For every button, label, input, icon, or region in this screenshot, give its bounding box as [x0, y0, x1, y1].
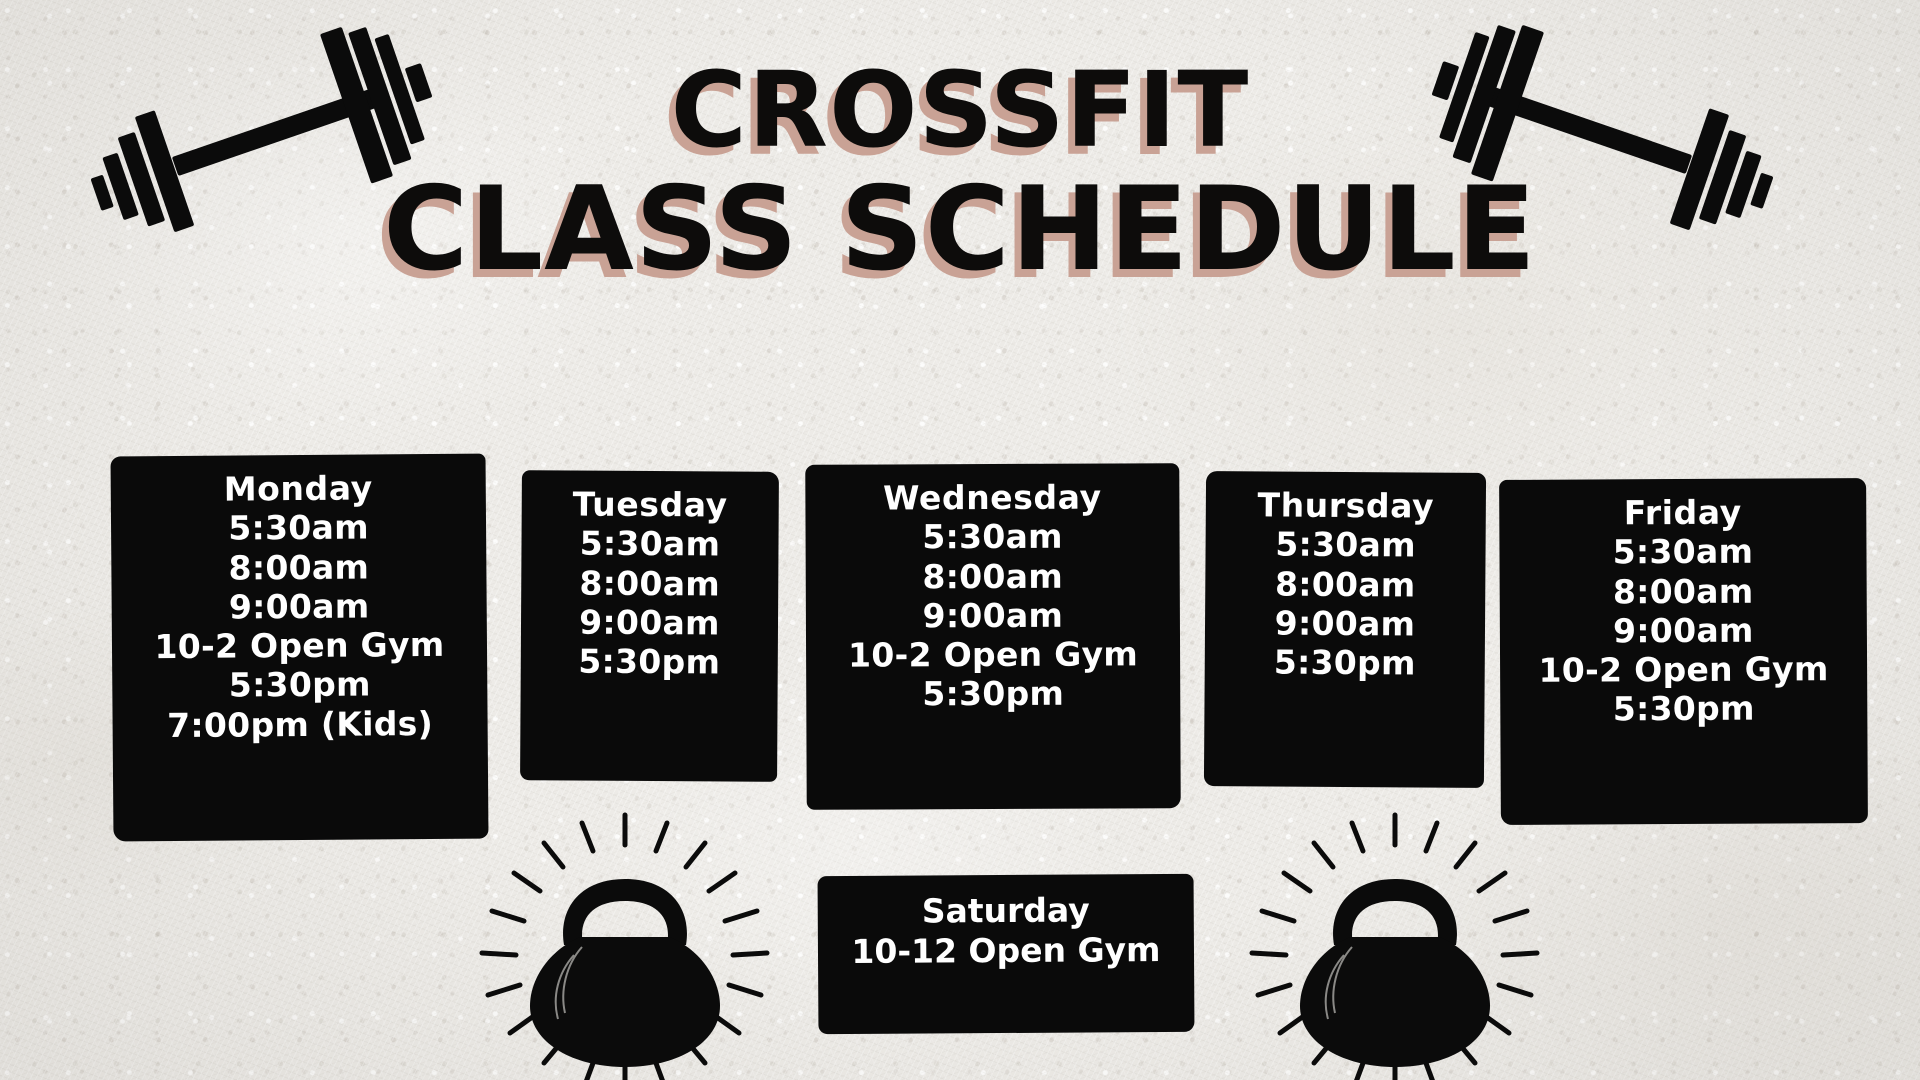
- class-time: 10-2 Open Gym: [816, 634, 1170, 675]
- day-card-wednesday[interactable]: Wednesday 5:30am 8:00am 9:00am 10-2 Open…: [805, 463, 1181, 810]
- class-time: 9:00am: [1510, 610, 1857, 651]
- day-card-saturday[interactable]: Saturday 10-12 Open Gym: [818, 874, 1195, 1034]
- class-time: 8:00am: [816, 556, 1170, 597]
- class-time: 9:00am: [122, 585, 477, 627]
- schedule-poster: CROSSFIT CLASS SCHEDULE Monday 5:30am 8:…: [0, 0, 1920, 1080]
- class-time: 10-2 Open Gym: [1510, 649, 1857, 690]
- class-time: 9:00am: [816, 595, 1170, 636]
- day-card-tuesday[interactable]: Tuesday 5:30am 8:00am 9:00am 5:30pm: [520, 470, 779, 782]
- day-card-monday[interactable]: Monday 5:30am 8:00am 9:00am 10-2 Open Gy…: [110, 454, 488, 842]
- day-label-monday: Monday: [121, 468, 476, 510]
- class-time: 5:30pm: [816, 674, 1170, 715]
- class-time: 5:30am: [1215, 524, 1475, 565]
- title-line-class-schedule: CLASS SCHEDULE: [0, 172, 1920, 288]
- class-time: 5:30am: [1509, 531, 1856, 572]
- title-line-crossfit: CROSSFIT: [0, 58, 1920, 162]
- class-time: 9:00am: [531, 602, 768, 643]
- class-time: 5:30am: [815, 516, 1169, 557]
- class-time: 10-12 Open Gym: [828, 930, 1184, 972]
- class-time: 8:00am: [121, 546, 476, 588]
- day-label-saturday: Saturday: [828, 890, 1184, 932]
- class-time: 5:30am: [531, 524, 768, 565]
- day-label-wednesday: Wednesday: [815, 477, 1169, 518]
- class-time: 5:30pm: [122, 664, 477, 706]
- day-label-tuesday: Tuesday: [532, 484, 769, 525]
- day-label-friday: Friday: [1509, 492, 1856, 533]
- class-time: 9:00am: [1215, 603, 1475, 644]
- class-time: 5:30pm: [1510, 688, 1857, 729]
- class-time: 7:00pm (Kids): [122, 703, 477, 745]
- weekday-cards-row: Monday 5:30am 8:00am 9:00am 10-2 Open Gy…: [0, 455, 1920, 855]
- class-time: 5:30pm: [1215, 642, 1475, 683]
- day-label-thursday: Thursday: [1216, 485, 1476, 526]
- day-card-friday[interactable]: Friday 5:30am 8:00am 9:00am 10-2 Open Gy…: [1499, 478, 1868, 825]
- class-time: 5:30pm: [531, 641, 768, 682]
- class-time: 10-2 Open Gym: [122, 625, 477, 667]
- class-time: 8:00am: [531, 563, 768, 604]
- class-time: 5:30am: [121, 507, 476, 549]
- poster-title: CROSSFIT CLASS SCHEDULE: [0, 58, 1920, 288]
- class-time: 8:00am: [1510, 571, 1857, 612]
- day-card-thursday[interactable]: Thursday 5:30am 8:00am 9:00am 5:30pm: [1204, 471, 1486, 788]
- class-time: 8:00am: [1215, 564, 1475, 605]
